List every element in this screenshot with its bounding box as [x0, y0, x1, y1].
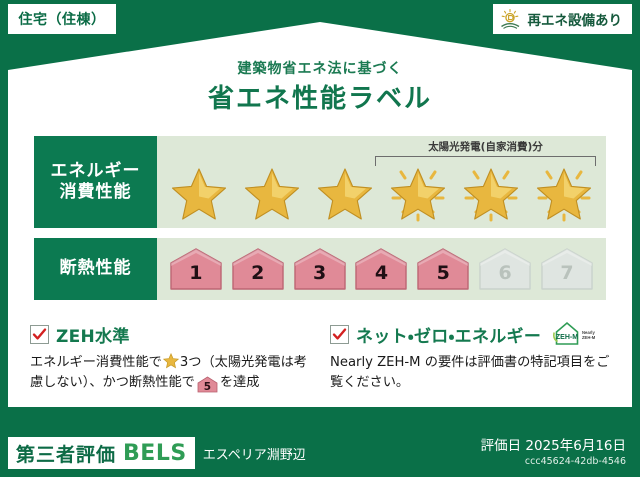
bels-badge: 第三者評価 BELS	[8, 437, 195, 469]
star-base	[239, 160, 305, 226]
sun-solar-icon	[499, 8, 523, 30]
zeh-criteria-block: ZEH水準 エネルギー消費性能で 3つ（太陽光発電は考慮しない）、かつ断熱性能で…	[30, 322, 308, 394]
insulation-grade-1: 1	[168, 246, 224, 292]
energy-key-line1: エネルギー	[51, 161, 141, 182]
inline-house-number: 5	[197, 376, 218, 396]
star-base	[166, 160, 232, 226]
zeh-checkbox[interactable]	[30, 325, 49, 344]
building-type-tag: 住宅（住棟）	[8, 4, 116, 34]
insulation-performance-row: 断熱性能 1 2 3 4	[34, 238, 606, 300]
energy-performance-value: 太陽光発電(自家消費)分	[157, 136, 606, 228]
zeh-criteria-title: ZEH水準	[56, 322, 130, 347]
insulation-grade-3: 3	[292, 246, 348, 292]
third-party-evaluation-text: 第三者評価	[16, 440, 116, 467]
insulation-grade-4: 4	[353, 246, 409, 292]
evaluation-date-label: 評価日	[481, 438, 522, 454]
insulation-grade-number: 5	[437, 264, 450, 292]
insulation-grade-number: 7	[560, 264, 573, 292]
insulation-performance-value: 1 2 3 4 5 6 7	[157, 238, 606, 300]
insulation-key-text: 断熱性能	[60, 258, 132, 279]
insulation-grade-6: 6	[477, 246, 533, 292]
insulation-grade-2: 2	[230, 246, 286, 292]
insulation-grade-number: 3	[313, 264, 326, 292]
renewable-badge-text: 再エネ設備あり	[528, 9, 623, 29]
building-type-text: 住宅（住棟）	[19, 9, 106, 29]
zeh-body-part3: を達成	[220, 375, 260, 390]
zeh-criteria-header: ZEH水準	[30, 322, 308, 346]
zeh-body-part1: エネルギー消費性能で	[30, 355, 162, 370]
star-base	[312, 160, 378, 226]
evaluation-date: 評価日 2025年6月16日	[481, 434, 626, 454]
energy-performance-row: エネルギー 消費性能 太陽光発電(自家消費)分	[34, 136, 606, 228]
solar-bracket-label: 太陽光発電(自家消費)分	[371, 139, 600, 154]
inline-star-icon	[163, 353, 179, 369]
net-zero-energy-criteria-block: ネット・ゼロ・エネルギー ZEH-M Nearly ZEH-M Nearly Z…	[330, 322, 614, 394]
renewable-equipment-badge: 再エネ設備あり	[493, 4, 633, 34]
evaluation-id: ccc45624-42db-4546	[481, 456, 626, 467]
inline-house-grade-icon: 5	[197, 376, 218, 393]
svg-text:ZEH-M: ZEH-M	[556, 334, 578, 341]
bels-footer: 第三者評価 BELS エスペリア淵野辺	[8, 437, 306, 469]
insulation-grade-number: 6	[499, 264, 512, 292]
insulation-grade-5: 5	[415, 246, 471, 292]
nze-checkbox[interactable]	[330, 325, 349, 344]
insulation-grade-scale: 1 2 3 4 5 6 7	[157, 244, 606, 294]
insulation-grade-number: 1	[189, 264, 202, 292]
zeh-criteria-body: エネルギー消費性能で 3つ（太陽光発電は考慮しない）、かつ断熱性能で 5 を達成	[30, 353, 308, 394]
nze-criteria-title: ネット・ゼロ・エネルギー	[356, 322, 541, 347]
insulation-performance-label-key: 断熱性能	[34, 238, 157, 300]
insulation-grade-number: 4	[375, 264, 388, 292]
evaluation-date-block: 評価日 2025年6月16日 ccc45624-42db-4546	[481, 434, 626, 467]
bels-logo-text: BELS	[123, 441, 187, 466]
page-title: 省エネ性能ラベル	[0, 78, 640, 115]
energy-performance-label-key: エネルギー 消費性能	[34, 136, 157, 228]
label-subtitle: 建築物省エネ法に基づく	[0, 58, 640, 78]
insulation-grade-7: 7	[539, 246, 595, 292]
zeh-m-logo-icon: ZEH-M Nearly ZEH-M	[552, 320, 598, 348]
nze-criteria-header: ネット・ゼロ・エネルギー ZEH-M Nearly ZEH-M	[330, 322, 614, 346]
evaluation-date-value: 2025年6月16日	[525, 438, 626, 454]
star-rating	[157, 158, 606, 226]
insulation-grade-number: 2	[251, 264, 264, 292]
svg-text:ZEH-M: ZEH-M	[582, 335, 596, 340]
star-solar	[458, 160, 524, 226]
building-name: エスペリア淵野辺	[203, 444, 306, 463]
energy-performance-label: 住宅（住棟） 再エネ設備あり 建築物省エネ法に基づく 省エネ性能ラベル	[0, 0, 640, 477]
star-solar	[531, 160, 597, 226]
energy-key-line2: 消費性能	[60, 182, 132, 203]
star-solar	[385, 160, 451, 226]
nze-criteria-body: Nearly ZEH-M の要件は評価書の特記項目をご覧ください。	[330, 353, 614, 394]
